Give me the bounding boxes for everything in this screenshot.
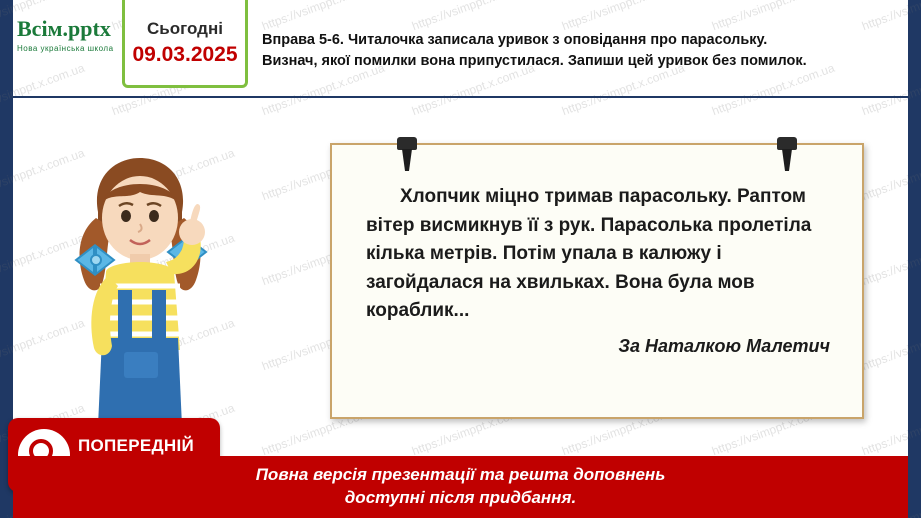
task-line-2: Визнач, якої помилки вона припустилася. … xyxy=(262,51,912,72)
watermark-text: https://vsimppt.x.com.ua xyxy=(710,0,836,33)
slide: https://vsimppt.x.com.uahttps://vsimppt.… xyxy=(0,0,921,518)
text-card: Хлопчик міцно тримав парасольку. Раптом … xyxy=(330,143,864,419)
header-divider xyxy=(13,96,908,98)
watermark-text: https://vsimppt.x.com.ua xyxy=(410,0,536,33)
brand-title: Всім.pptx xyxy=(17,16,111,42)
task-instruction: Вправа 5-6. Читалочка записала уривок з … xyxy=(262,30,912,72)
purchase-banner-text: Повна версія презентації та решта доповн… xyxy=(256,464,666,510)
today-label: Сьогодні xyxy=(147,19,223,39)
girl-svg xyxy=(40,140,240,430)
story-body: Хлопчик міцно тримав парасольку. Раптом … xyxy=(366,186,811,321)
preview-label-line1: ПОПЕРЕДНІЙ xyxy=(78,436,194,455)
girl-illustration xyxy=(40,140,240,430)
today-badge: Сьогодні 09.03.2025 xyxy=(122,0,248,88)
task-line-1: Вправа 5-6. Читалочка записала уривок з … xyxy=(262,30,912,51)
watermark-text: https://vsimppt.x.com.ua xyxy=(560,0,686,33)
brand-subtitle: Нова українська школа xyxy=(17,44,114,53)
watermark-text: https://vsimppt.x.com.ua xyxy=(260,0,386,33)
banner-line-2: доступні після придбання. xyxy=(256,487,666,510)
today-date: 09.03.2025 xyxy=(132,43,237,67)
text-card-inner: Хлопчик міцно тримав парасольку. Раптом … xyxy=(342,155,852,407)
brand-logo: Всім.pptx Нова українська школа xyxy=(13,6,137,62)
purchase-banner: Повна версія презентації та решта доповн… xyxy=(13,456,908,518)
story-text: Хлопчик міцно тримав парасольку. Раптом … xyxy=(366,183,830,326)
banner-line-1: Повна версія презентації та решта доповн… xyxy=(256,464,666,487)
story-author: За Наталкою Малетич xyxy=(366,336,830,357)
right-edge-bar xyxy=(908,0,921,518)
